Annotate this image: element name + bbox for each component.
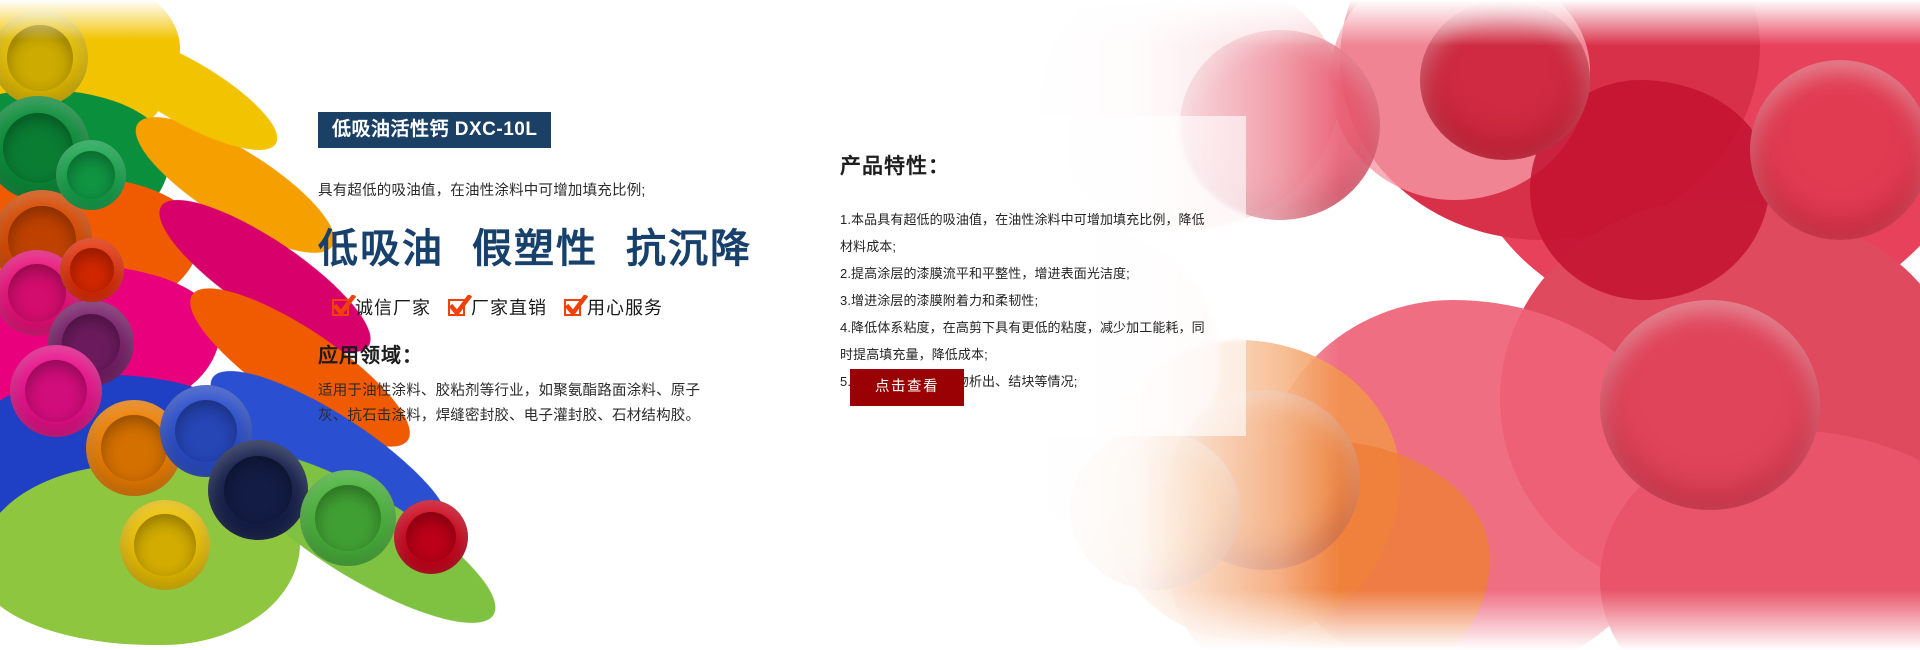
application-fields-description: 适用于油性涂料、胶粘剂等行业，如聚氨酯路面涂料、原子灰、抗石击涂料，焊缝密封胶、… <box>318 379 718 430</box>
headline-word-3: 抗沉降 <box>626 226 752 271</box>
headline-word-1: 低吸油 <box>318 226 444 271</box>
check-icon <box>564 299 581 316</box>
headline-keywords: 低吸油假塑性抗沉降 <box>318 216 738 274</box>
check-icon <box>448 299 465 316</box>
product-title-badge: 低吸油活性钙 DXC-10L <box>318 112 551 148</box>
trust-badges: 诚信厂家 厂家直销 用心服务 <box>332 294 738 320</box>
trust-badge-3: 用心服务 <box>564 294 663 320</box>
view-details-button[interactable]: 点击查看 <box>850 369 964 406</box>
feature-item: 2.提高涂层的漆膜流平和平整性，增进表面光洁度; <box>840 260 1216 287</box>
features-list: 1.本品具有超低的吸油值，在油性涂料中可增加填充比例，降低材料成本; 2.提高涂… <box>840 206 1216 395</box>
trust-badge-label: 厂家直销 <box>471 294 547 320</box>
headline-word-2: 假塑性 <box>472 226 598 271</box>
feature-item: 3.增进涂层的漆膜附着力和柔韧性; <box>840 287 1216 314</box>
trust-badge-2: 厂家直销 <box>448 294 547 320</box>
feature-item: 1.本品具有超低的吸油值，在油性涂料中可增加填充比例，降低材料成本; <box>840 206 1216 260</box>
trust-badge-label: 用心服务 <box>587 294 663 320</box>
application-fields-title: 应用领域： <box>318 339 738 368</box>
feature-item: 4.降低体系粘度，在高剪下具有更低的粘度，减少加工能耗，同时提高填充量，降低成本… <box>840 314 1216 368</box>
check-icon <box>332 299 349 316</box>
trust-badge-label: 诚信厂家 <box>355 294 431 320</box>
banner-stage: 低吸油活性钙 DXC-10L 具有超低的吸油值，在油性涂料中可增加填充比例; 低… <box>0 0 1920 650</box>
left-content: 低吸油活性钙 DXC-10L 具有超低的吸油值，在油性涂料中可增加填充比例; 低… <box>318 112 738 430</box>
product-subtitle: 具有超低的吸油值，在油性涂料中可增加填充比例; <box>318 179 738 200</box>
product-features-panel: 产品特性： 1.本品具有超低的吸油值，在油性涂料中可增加填充比例，降低材料成本;… <box>806 116 1246 436</box>
trust-badge-1: 诚信厂家 <box>332 294 431 320</box>
features-panel-title: 产品特性： <box>840 150 1216 180</box>
